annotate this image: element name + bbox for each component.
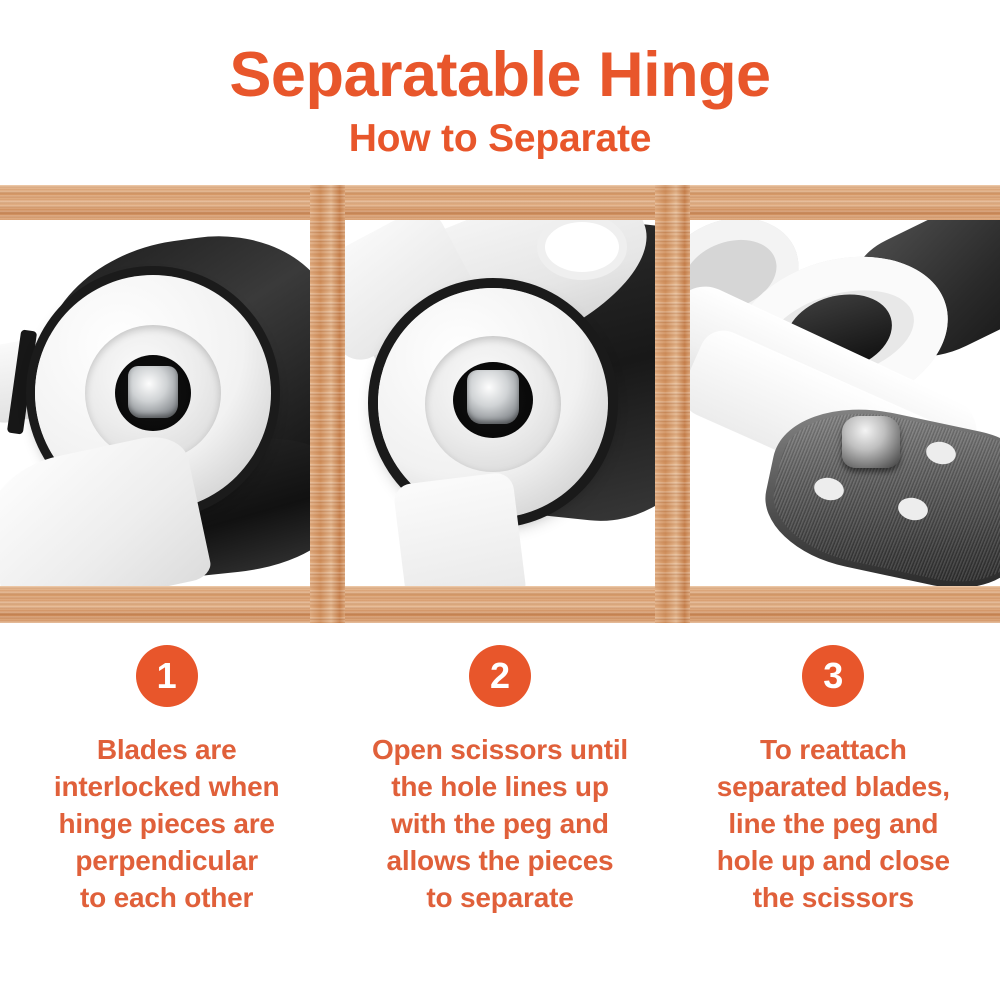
wood-rail-top (0, 185, 1000, 220)
hinge-peg (842, 416, 900, 468)
step-3: 3 To reattach separated blades, line the… (667, 623, 1000, 1000)
wood-divider-right (655, 185, 690, 623)
header: Separatable Hinge How to Separate (0, 0, 1000, 185)
photo-band (0, 185, 1000, 623)
steps-row: 1 Blades are interlocked when hinge piec… (0, 623, 1000, 1000)
photo-interlocked-hinge (0, 220, 310, 586)
lower-handle (0, 430, 213, 586)
page-title: Separatable Hinge (229, 44, 770, 107)
photo-panel-2 (345, 220, 655, 586)
step-caption: To reattach separated blades, line the p… (693, 731, 973, 916)
step-2: 2 Open scissors until the hole lines up … (333, 623, 666, 1000)
step-caption: Open scissors until the hole lines up wi… (360, 731, 640, 916)
page-subtitle: How to Separate (349, 119, 652, 158)
handle-stem (393, 471, 528, 586)
wood-divider-left (310, 185, 345, 623)
hinge-screw (128, 366, 178, 418)
step-1: 1 Blades are interlocked when hinge piec… (0, 623, 333, 1000)
alignment-hole (545, 222, 619, 272)
photo-panel-3 (690, 220, 1000, 586)
photo-panel-1 (0, 220, 310, 586)
step-caption: Blades are interlocked when hinge pieces… (27, 731, 307, 916)
wood-rail-bottom (0, 586, 1000, 623)
photo-separated-blades (690, 220, 1000, 586)
hinge-screw (467, 370, 519, 424)
step-number-badge: 2 (469, 645, 531, 707)
photo-hole-aligned (345, 220, 655, 586)
step-number-badge: 1 (136, 645, 198, 707)
step-number-badge: 3 (802, 645, 864, 707)
